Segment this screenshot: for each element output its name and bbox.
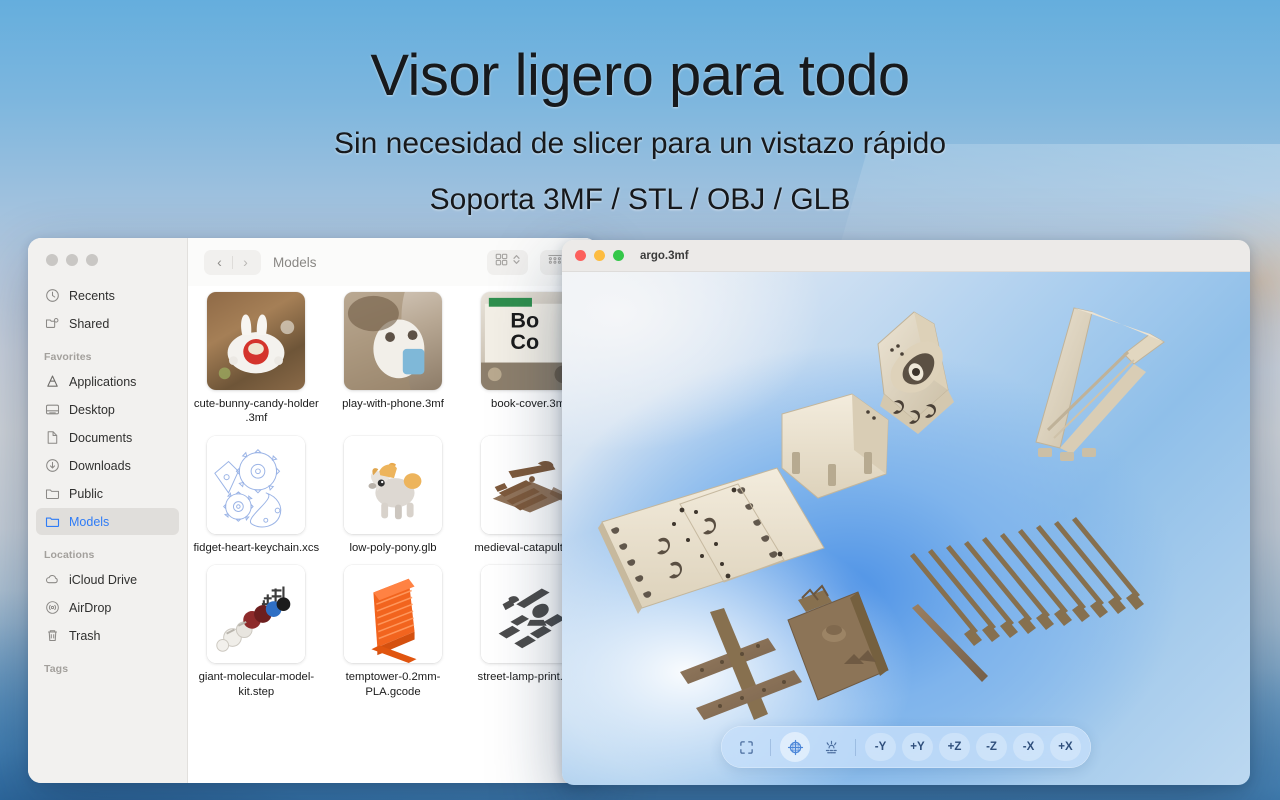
sidebar-item-documents[interactable]: Documents	[36, 424, 179, 451]
minimize-button[interactable]	[594, 250, 605, 261]
chevron-updown-icon	[512, 253, 521, 271]
file-item[interactable]: play-with-phone.3mf	[328, 292, 458, 426]
zoom-button[interactable]	[86, 254, 98, 266]
navigation-control: ‹ ›	[204, 250, 261, 275]
sidebar-item-label: Shared	[69, 317, 109, 331]
file-name: fidget-heart-keychain.xcs	[191, 541, 321, 555]
sidebar-item-airdrop[interactable]: AirDrop	[36, 594, 179, 621]
sidebar-item-label: Public	[69, 487, 103, 501]
airdrop-icon	[44, 600, 60, 616]
file-name: giant-molecular-model-kit.step	[191, 670, 321, 699]
view-axis-plus-z-button[interactable]: +Z	[939, 733, 970, 761]
sidebar-item-label: Desktop	[69, 403, 115, 417]
toolbar-divider	[770, 739, 771, 756]
sidebar-item-label: Downloads	[69, 459, 131, 473]
cloud-icon	[44, 572, 60, 588]
breadcrumb-path[interactable]: Models	[273, 255, 317, 270]
viewer-toolbar[interactable]: -Y +Y +Z -Z -X +X	[721, 726, 1091, 768]
sidebar-item-label: Models	[69, 515, 109, 529]
file-name: temptower-0.2mm-PLA.gcode	[328, 670, 458, 699]
list-view-icon	[547, 253, 563, 272]
viewer-title-bar[interactable]: argo.3mf	[562, 240, 1250, 272]
file-thumbnail[interactable]	[344, 436, 442, 534]
hero-subtitle-line-2: Soporta 3MF / STL / OBJ / GLB	[0, 181, 1280, 219]
file-grid: cute-bunny-candy-holder .3mf play-with-p…	[188, 286, 598, 699]
finder-window[interactable]: Recents Shared Favorites Applications	[28, 238, 598, 783]
view-axis-plus-y-button[interactable]: +Y	[902, 733, 933, 761]
file-item[interactable]: giant-molecular-model-kit.step	[191, 565, 321, 699]
grid-view-icon	[494, 252, 509, 272]
file-name: play-with-phone.3mf	[328, 397, 458, 411]
trash-icon	[44, 628, 60, 644]
file-item[interactable]: low-poly-pony.glb	[328, 436, 458, 555]
view-axis-plus-x-button[interactable]: +X	[1050, 733, 1081, 761]
sidebar-item-downloads[interactable]: Downloads	[36, 452, 179, 479]
model-3d-render	[562, 272, 1250, 785]
sidebar-item-applications[interactable]: Applications	[36, 368, 179, 395]
view-axis-minus-x-button[interactable]: -X	[1013, 733, 1044, 761]
svg-text:Co: Co	[510, 329, 539, 354]
sidebar-item-label: Recents	[69, 289, 115, 303]
forward-button[interactable]: ›	[233, 250, 258, 275]
viewer-file-title: argo.3mf	[640, 250, 689, 262]
close-button[interactable]	[46, 254, 58, 266]
sidebar-header-locations: Locations	[36, 536, 179, 566]
clock-icon	[44, 288, 60, 304]
hero-subtitle-line-1: Sin necesidad de slicer para un vistazo …	[0, 125, 1280, 163]
file-thumbnail[interactable]	[207, 436, 305, 534]
finder-traffic-lights[interactable]	[36, 238, 179, 282]
minimize-button[interactable]	[66, 254, 78, 266]
file-thumbnail[interactable]	[207, 292, 305, 390]
viewer-3d-canvas[interactable]: -Y +Y +Z -Z -X +X	[562, 272, 1250, 785]
downloads-icon	[44, 458, 60, 474]
sidebar-item-recents[interactable]: Recents	[36, 282, 179, 309]
document-icon	[44, 430, 60, 446]
sidebar-item-label: Documents	[69, 431, 132, 445]
sidebar-item-public[interactable]: Public	[36, 480, 179, 507]
shared-folder-icon	[44, 316, 60, 332]
sidebar-item-models[interactable]: Models	[36, 508, 179, 535]
sidebar-item-icloud-drive[interactable]: iCloud Drive	[36, 566, 179, 593]
close-button[interactable]	[575, 250, 586, 261]
toolbar-divider	[855, 739, 856, 756]
hero-title: Visor ligero para todo	[0, 46, 1280, 107]
sidebar-item-desktop[interactable]: Desktop	[36, 396, 179, 423]
view-axis-minus-z-button[interactable]: -Z	[976, 733, 1007, 761]
fit-to-view-button[interactable]	[731, 732, 761, 762]
file-thumbnail[interactable]	[207, 565, 305, 663]
desktop-icon	[44, 402, 60, 418]
sidebar-header-tags: Tags	[36, 650, 179, 680]
sidebar-item-shared[interactable]: Shared	[36, 310, 179, 337]
lighting-toggle-button[interactable]	[816, 732, 846, 762]
view-axis-minus-y-button[interactable]: -Y	[865, 733, 896, 761]
hero-text-block: Visor ligero para todo Sin necesidad de …	[0, 46, 1280, 220]
sidebar-item-label: Trash	[69, 629, 101, 643]
zoom-button[interactable]	[613, 250, 624, 261]
file-name: cute-bunny-candy-holder .3mf	[191, 397, 321, 426]
sidebar-item-label: iCloud Drive	[69, 573, 137, 587]
finder-sidebar: Recents Shared Favorites Applications	[28, 238, 188, 783]
view-mode-button[interactable]	[487, 250, 528, 275]
file-thumbnail[interactable]	[344, 565, 442, 663]
applications-icon	[44, 374, 60, 390]
sidebar-item-label: Applications	[69, 375, 136, 389]
finder-content-area: ‹ › Models	[188, 238, 598, 783]
grid-toggle-button[interactable]	[780, 732, 810, 762]
sidebar-item-trash[interactable]: Trash	[36, 622, 179, 649]
sidebar-item-label: AirDrop	[69, 601, 111, 615]
sidebar-header-favorites: Favorites	[36, 338, 179, 368]
folder-icon	[44, 486, 60, 502]
folder-icon	[44, 514, 60, 530]
file-thumbnail[interactable]	[344, 292, 442, 390]
back-button[interactable]: ‹	[207, 250, 232, 275]
file-item[interactable]: fidget-heart-keychain.xcs	[191, 436, 321, 555]
file-item[interactable]: cute-bunny-candy-holder .3mf	[191, 292, 321, 426]
file-name: low-poly-pony.glb	[328, 541, 458, 555]
finder-toolbar: ‹ › Models	[188, 238, 598, 286]
model-viewer-window[interactable]: argo.3mf	[562, 240, 1250, 785]
file-item[interactable]: temptower-0.2mm-PLA.gcode	[328, 565, 458, 699]
